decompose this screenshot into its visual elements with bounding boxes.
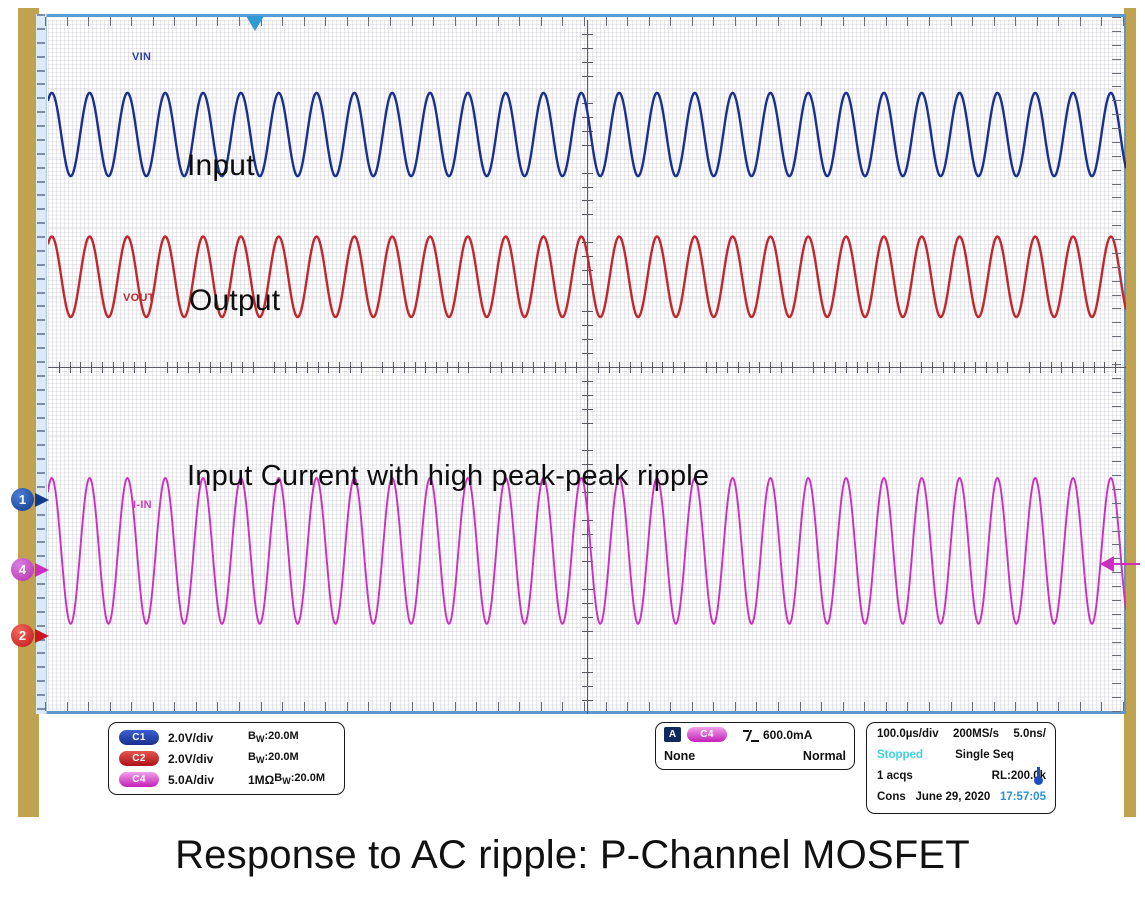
waveform-graticule[interactable]: VIN VOUT I-IN Input Output Input Current… bbox=[36, 14, 1126, 714]
channel-scale-c1: 2.0V/div bbox=[168, 731, 242, 745]
trigger-mode-row: None Normal bbox=[664, 749, 846, 763]
source-label: Cons bbox=[877, 791, 906, 803]
channel-scale-c2: 2.0V/div bbox=[168, 752, 242, 766]
channel-marker-4[interactable]: 4 bbox=[11, 558, 49, 581]
resolution: 5.0ns/ bbox=[1013, 728, 1046, 740]
oscilloscope-screen-photo: VIN VOUT I-IN Input Output Input Current… bbox=[0, 0, 1145, 828]
trace-label-vout: VOUT bbox=[123, 292, 155, 304]
timebase-row-3: 1 acqs RL:200.0k bbox=[877, 770, 1046, 782]
timebase-row-2: Stopped Single Seq bbox=[877, 749, 1046, 761]
trigger-level-line bbox=[1114, 563, 1140, 565]
trigger-level-value: 600.0mA bbox=[763, 728, 812, 742]
timebase-status-panel[interactable]: 100.0µs/div 200MS/s 5.0ns/ Stopped Singl… bbox=[866, 722, 1056, 814]
channel-badge-c1: C1 bbox=[119, 730, 159, 745]
trigger-set-badge: A bbox=[664, 727, 681, 742]
acquisition-state: Stopped bbox=[877, 749, 923, 761]
annotation-output: Output bbox=[189, 284, 280, 318]
sample-rate: 200MS/s bbox=[953, 728, 999, 740]
trigger-source-badge: C4 bbox=[687, 727, 727, 742]
channel-bandwidth-c4: BW:20.0M bbox=[274, 772, 325, 786]
channel-row-c2[interactable]: C2 2.0V/div BW:20.0M bbox=[119, 749, 299, 768]
trace-label-iin: I-IN bbox=[133, 499, 152, 511]
trigger-mode: Normal bbox=[803, 749, 846, 763]
acquisition-date: June 29, 2020 bbox=[915, 791, 990, 803]
timebase-row-1: 100.0µs/div 200MS/s 5.0ns/ bbox=[877, 728, 1046, 740]
trace-iin bbox=[48, 478, 1126, 624]
channel-bandwidth-c1: BW:20.0M bbox=[248, 730, 299, 744]
channel-row-c4[interactable]: C4 5.0A/div 1MΩ BW:20.0M bbox=[119, 770, 325, 789]
channel-marker-1-arrow-icon bbox=[35, 493, 49, 507]
trigger-position-marker-icon[interactable] bbox=[246, 16, 264, 31]
acquisition-time: 17:57:05 bbox=[1000, 791, 1046, 803]
channel-bandwidth-c2: BW:20.0M bbox=[248, 751, 299, 765]
annotation-input: Input bbox=[187, 149, 255, 183]
channel-marker-1[interactable]: 1 bbox=[11, 488, 49, 511]
trigger-readout-panel[interactable]: A C4 600.0mA None Normal bbox=[655, 722, 855, 770]
download-indicator-icon bbox=[1034, 767, 1043, 785]
trigger-summary-row: A C4 600.0mA bbox=[664, 727, 812, 742]
timebase-row-4: Cons June 29, 2020 17:57:05 bbox=[877, 791, 1046, 803]
waveform-traces bbox=[48, 20, 1126, 714]
channel-marker-4-arrow-icon bbox=[35, 563, 49, 577]
annotation-input-current: Input Current with high peak-peak ripple bbox=[187, 460, 709, 493]
acquisition-count: 1 acqs bbox=[877, 770, 913, 782]
trace-label-vin: VIN bbox=[132, 51, 151, 63]
trigger-level-marker-right[interactable] bbox=[1100, 556, 1140, 572]
acquisition-mode: Single Seq bbox=[955, 749, 1014, 761]
channel-badge-c2: C2 bbox=[119, 751, 159, 766]
channel-badge-c4: C4 bbox=[119, 772, 159, 787]
trigger-coupling: None bbox=[664, 749, 695, 763]
channel-marker-4-label: 4 bbox=[11, 558, 34, 581]
channel-row-c1[interactable]: C1 2.0V/div BW:20.0M bbox=[119, 728, 299, 747]
time-per-div: 100.0µs/div bbox=[877, 728, 939, 740]
trigger-slope-falling-icon bbox=[743, 728, 759, 742]
channel-marker-2[interactable]: 2 bbox=[11, 624, 49, 647]
channel-scale-c4: 5.0A/div bbox=[168, 773, 242, 787]
channel-readout-panel[interactable]: C1 2.0V/div BW:20.0M C2 2.0V/div BW:20.0… bbox=[108, 722, 345, 795]
channel-marker-2-label: 2 bbox=[11, 624, 34, 647]
channel-impedance-c4: 1MΩ bbox=[248, 773, 274, 787]
graticule-inner: VIN VOUT I-IN Input Output Input Current… bbox=[48, 20, 1126, 714]
channel-marker-2-arrow-icon bbox=[35, 629, 49, 643]
channel-marker-1-label: 1 bbox=[11, 488, 34, 511]
trigger-level-arrow-icon bbox=[1100, 556, 1114, 572]
vertical-position-rail[interactable] bbox=[36, 14, 47, 714]
figure-caption: Response to AC ripple: P-Channel MOSFET bbox=[0, 833, 1145, 878]
